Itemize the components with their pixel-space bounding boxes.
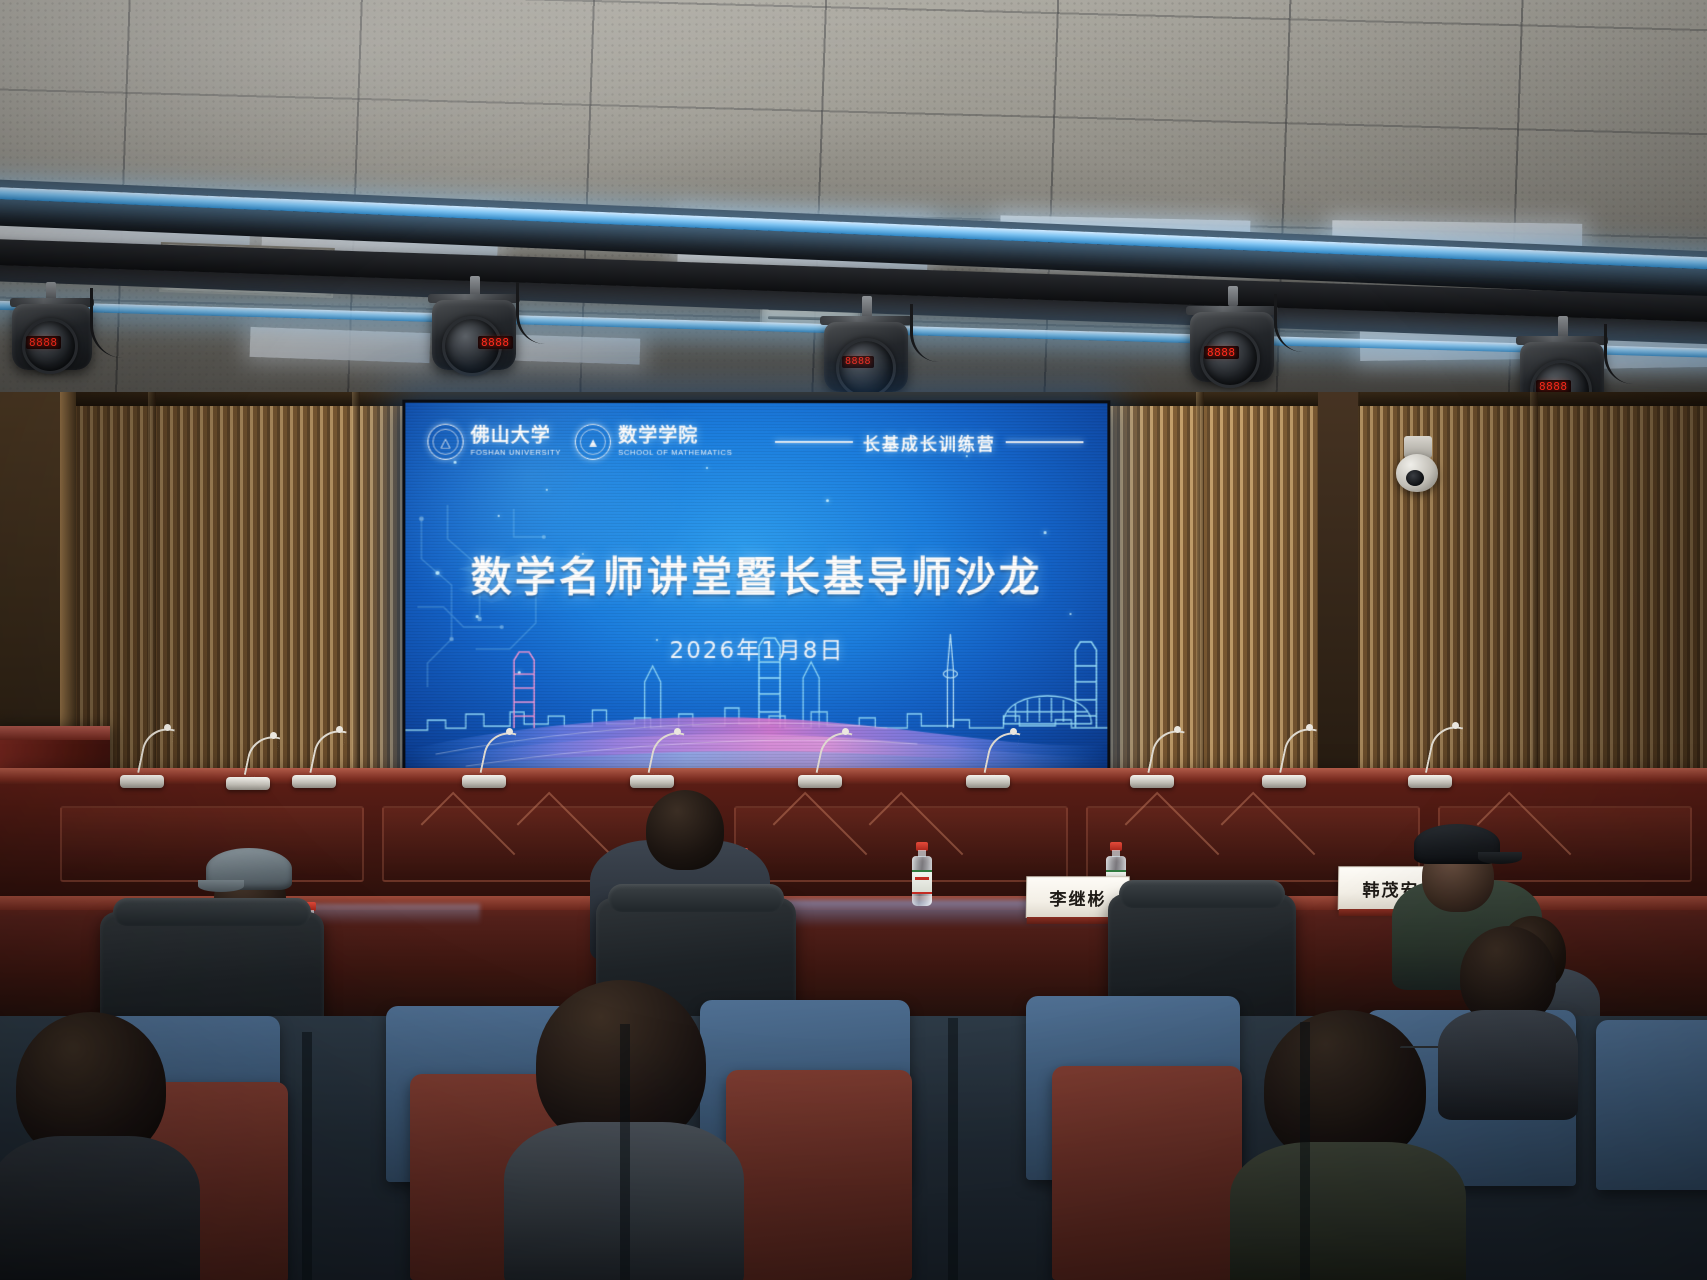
seat-divider	[1300, 1022, 1310, 1280]
school-of-mathematics-name-en: SCHOOL OF MATHEMATICS	[618, 449, 732, 457]
school-of-mathematics-seal-icon: ▲	[575, 424, 611, 460]
screen-header: △ 佛山大学 FOSHAN UNIVERSITY ▲ 数学学院	[405, 413, 1107, 472]
mic-base	[1130, 775, 1174, 788]
mic-neck	[137, 724, 175, 779]
nameplate-text: 李继彬	[1049, 885, 1106, 910]
person-body	[0, 1136, 200, 1280]
gooseneck-microphone	[120, 726, 174, 788]
mic-capsule	[1452, 722, 1459, 729]
light-clamp	[470, 276, 480, 296]
light-clamp	[1558, 316, 1568, 338]
light-led-readout: 8888	[1204, 346, 1239, 359]
gooseneck-microphone	[292, 728, 346, 788]
mic-base	[798, 775, 842, 788]
gooseneck-microphone	[966, 730, 1020, 788]
stage-light-fixture: 8888	[1178, 300, 1284, 400]
foshan-university-name-cn: 佛山大学	[471, 427, 561, 446]
mic-base	[1262, 775, 1306, 788]
mic-capsule	[1174, 726, 1181, 733]
program-banner: 长基成长训练营	[775, 430, 1083, 455]
mic-base	[226, 777, 270, 790]
gooseneck-microphone	[1130, 728, 1184, 788]
mic-neck	[309, 726, 346, 779]
banner-rule-right	[1006, 441, 1084, 443]
light-clamp	[862, 296, 872, 318]
camera-lens	[1406, 470, 1424, 486]
mic-neck	[648, 728, 685, 779]
mic-capsule	[674, 728, 681, 735]
banner-rule-left	[775, 441, 853, 443]
audience-person	[0, 1012, 190, 1280]
light-lens	[836, 338, 896, 398]
gooseneck-microphone	[798, 730, 852, 788]
light-led-readout: 8888	[842, 356, 874, 368]
conference-hall-photo: 8888 8888 8888 8888 8888	[0, 0, 1707, 1280]
audience-person	[1244, 1010, 1454, 1280]
mic-base	[462, 775, 506, 788]
foshan-university-text: 佛山大学 FOSHAN UNIVERSITY	[471, 427, 561, 457]
mic-neck	[1279, 724, 1317, 779]
light-cable	[516, 282, 545, 344]
wall-dark-recess-right	[1318, 392, 1358, 802]
audience-person	[1438, 926, 1578, 1106]
mic-capsule	[164, 724, 171, 731]
foshan-university-logo: △ 佛山大学 FOSHAN UNIVERSITY	[427, 424, 561, 460]
cap-brim	[1478, 852, 1522, 864]
light-led-readout: 8888	[26, 336, 61, 349]
presentation-title: 数学名师讲堂暨长基导师沙龙	[405, 543, 1107, 603]
mic-base	[966, 775, 1010, 788]
audience-seat	[726, 1070, 912, 1280]
mic-capsule	[1306, 724, 1313, 731]
cap-brim	[198, 880, 244, 892]
seal-glyph: ▲	[587, 435, 600, 448]
stage-light-fixture: 8888	[420, 288, 526, 388]
foshan-university-seal-icon: △	[427, 424, 463, 460]
mic-base	[292, 775, 336, 788]
mic-neck	[1147, 726, 1184, 779]
audience-seat	[1596, 1020, 1707, 1190]
seal-glyph: △	[441, 435, 451, 448]
seat-divider	[302, 1032, 312, 1280]
school-of-mathematics-text: 数学学院 SCHOOL OF MATHEMATICS	[618, 427, 732, 457]
foshan-university-name-en: FOSHAN UNIVERSITY	[471, 449, 561, 457]
mic-neck	[1425, 722, 1463, 779]
mic-capsule	[506, 728, 513, 735]
mic-neck	[816, 728, 853, 779]
gooseneck-microphone	[1262, 726, 1316, 788]
chair-headrest	[1119, 880, 1284, 908]
mic-capsule	[1010, 728, 1017, 735]
stage-light-fixture: 8888	[4, 292, 100, 384]
bottle-label	[912, 870, 932, 894]
logo-group: △ 佛山大学 FOSHAN UNIVERSITY ▲ 数学学院	[427, 424, 732, 460]
gooseneck-microphone	[226, 734, 280, 790]
chair-headrest	[113, 898, 310, 926]
mic-base	[120, 775, 164, 788]
mic-neck	[984, 728, 1021, 779]
light-cable	[910, 304, 939, 362]
podium-top-surface	[0, 726, 110, 740]
mic-neck	[480, 728, 517, 779]
light-cable	[90, 288, 123, 358]
audience-seat	[1052, 1066, 1242, 1280]
mic-capsule	[842, 728, 849, 735]
light-cable	[1604, 324, 1633, 384]
light-clamp	[1228, 286, 1238, 306]
person-head	[646, 790, 724, 870]
gooseneck-microphone	[462, 730, 516, 788]
wall-dark-block-left	[0, 392, 60, 752]
gooseneck-microphone	[1408, 724, 1462, 788]
banner-text: 长基成长训练营	[863, 430, 996, 455]
seat-divider	[948, 1018, 958, 1280]
school-of-mathematics-name-cn: 数学学院	[618, 427, 732, 446]
school-of-mathematics-logo: ▲ 数学学院 SCHOOL OF MATHEMATICS	[575, 424, 732, 460]
mic-capsule	[270, 732, 277, 739]
person-body	[1230, 1142, 1466, 1280]
person-body	[1438, 1010, 1578, 1120]
surveillance-camera	[1392, 436, 1444, 500]
mic-neck	[244, 732, 281, 781]
eyeglasses	[1400, 1046, 1442, 1056]
light-led-readout: 8888	[478, 336, 513, 349]
mic-capsule	[336, 726, 343, 733]
light-cable	[1274, 294, 1303, 352]
mic-base	[1408, 775, 1452, 788]
chair-headrest	[608, 884, 784, 912]
seat-divider	[620, 1024, 630, 1280]
screen-content: △ 佛山大学 FOSHAN UNIVERSITY ▲ 数学学院	[405, 403, 1107, 783]
